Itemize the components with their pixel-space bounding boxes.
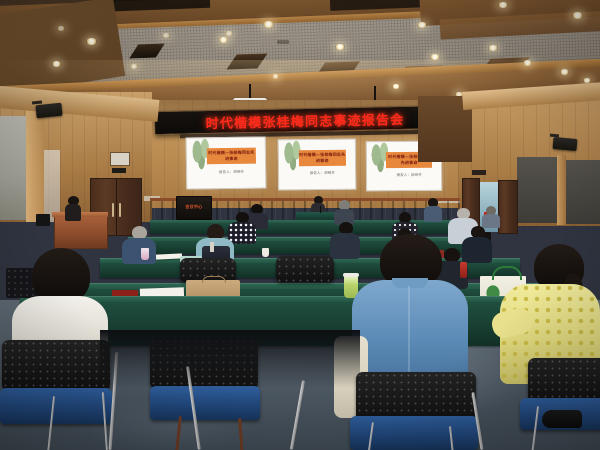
slide-title: 时代楷模—张桂梅同志先进事迹 [299,149,346,165]
chair-leg [238,418,245,450]
person-far-3 [424,198,442,222]
under-table-shadow [100,330,360,388]
downlight [488,45,498,51]
torso [65,204,81,221]
lectern-logo: 会议中心 [185,204,202,210]
cup-pink [141,248,149,260]
downlight [572,12,583,19]
wall-speaker-right [553,137,578,151]
cup-white [262,248,269,257]
chair-seat [0,388,112,424]
lectern: 会议中心 [176,196,212,220]
downlight [392,84,400,89]
led-banner-text: 时代楷模张桂梅同志事迹报告会 [205,108,404,131]
downlight [523,60,532,66]
wall-sign-small [112,168,126,173]
downlight [225,31,233,36]
right-window-shade-2 [566,160,600,224]
wall-sign-framed [110,152,130,166]
right-window-shade-1 [517,157,557,223]
slide-left: 时代楷模—张桂梅同志先进事迹 报告人：胡晓芬 [187,137,266,188]
projection-screen-left: 时代楷模—张桂梅同志先进事迹 报告人：胡晓芬 [186,136,267,189]
left-window-shade-1 [0,116,26,220]
downlight [57,26,65,31]
downlight [498,2,508,8]
chair-row3-b[interactable] [276,256,334,284]
person-far-4 [482,206,500,226]
person-desk-attendant [64,196,82,220]
shirt-collar [392,278,428,288]
left-wall-pillar [26,106,44,222]
downlight [335,44,345,50]
projection-screen-center: 时代楷模—张桂梅同志先进事迹 报告人：胡晓芬 [278,139,357,191]
table-top [150,220,470,223]
door-handle [119,203,121,217]
chair-seat [150,386,260,420]
door-center-seam [116,179,117,235]
chair-back [276,256,334,282]
person-row4-grey-hair [122,226,156,262]
wall-speaker-left [35,103,62,119]
torso [122,238,156,264]
downlight [430,54,440,60]
chair-front-left[interactable] [0,340,112,450]
stage-mic [320,206,321,213]
backpack-strap [210,242,214,252]
door-handle [112,203,114,217]
front-desk-left [54,215,108,249]
slide-title: 时代楷模—张桂梅同志先进事迹 [207,148,256,165]
downlight [52,61,61,67]
door-right-leaf-2 [498,180,518,234]
downlight [560,69,569,75]
downlight [272,74,279,79]
downlight [263,21,274,28]
slide-center: 时代楷模—张桂梅同志先进事迹 报告人：胡晓芬 [279,140,356,190]
slide-subtitle: 报告人：胡晓芬 [207,169,255,175]
projector-mount-rod [249,84,251,98]
shoe-black [542,410,582,428]
chair-back [2,340,110,390]
downlight [86,38,97,45]
right-shade-divider [557,155,566,225]
slide-subtitle: 报告人：胡晓芬 [299,170,346,175]
person-far-2 [334,200,354,224]
slide-subtitle: 报告人：胡晓芬 [386,172,432,177]
auditorium-scene: 时代楷模张桂梅同志事迹报告会 时代楷模—张桂梅同志先进事迹 报告人：胡晓芬 时代… [0,0,600,450]
downlight [219,37,228,43]
chair-leg [173,416,182,450]
torso [424,206,442,222]
downlight [130,64,138,69]
downlight [417,22,427,28]
ceiling-grille-mark [277,40,289,44]
desk-monitor [36,214,50,226]
chair-front-right[interactable] [490,336,600,450]
bag-paper-handle [202,276,226,283]
door-right-sign [472,170,486,175]
downlight [162,33,170,38]
